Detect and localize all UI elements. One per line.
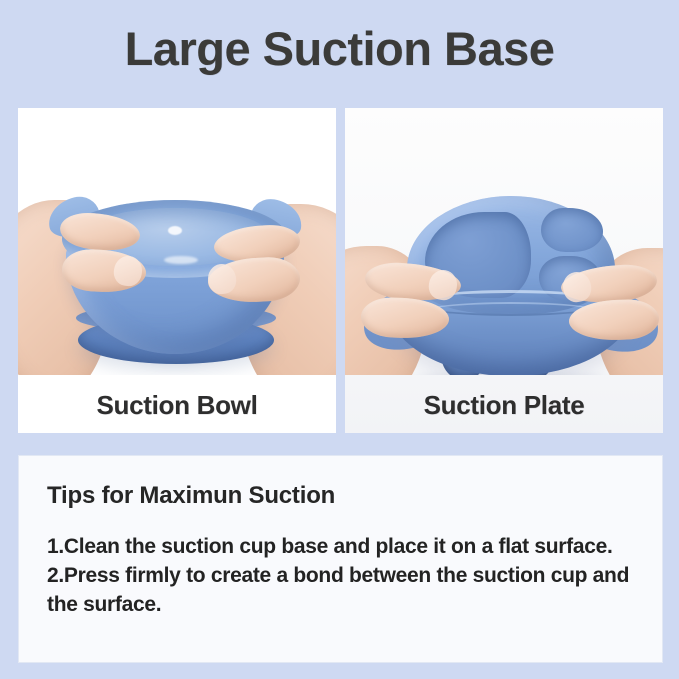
caption-suction-bowl: Suction Bowl <box>18 390 336 421</box>
tips-heading: Tips for Maximun Suction <box>47 482 335 510</box>
plate-compartment-small-top <box>541 208 603 252</box>
bowl-highlight <box>168 226 182 235</box>
tips-panel: Tips for Maximun Suction 1.Clean the suc… <box>18 455 663 663</box>
panel-suction-plate: Suction Plate <box>345 108 663 433</box>
suction-plate-photo <box>345 108 663 375</box>
suction-bowl-illustration <box>18 108 336 375</box>
panel-suction-bowl: Suction Bowl <box>18 108 336 433</box>
bowl-highlight <box>164 256 198 264</box>
tip-item-2: 2.Press firmly to create a bond between … <box>47 561 646 619</box>
caption-suction-plate: Suction Plate <box>345 390 663 421</box>
product-panels: Suction Bowl <box>18 108 663 433</box>
page-title: Large Suction Base <box>0 24 679 73</box>
tips-body: 1.Clean the suction cup base and place i… <box>47 532 646 619</box>
suction-plate-illustration <box>345 108 663 375</box>
suction-bowl-photo <box>18 108 336 375</box>
tip-item-1: 1.Clean the suction cup base and place i… <box>47 532 646 561</box>
